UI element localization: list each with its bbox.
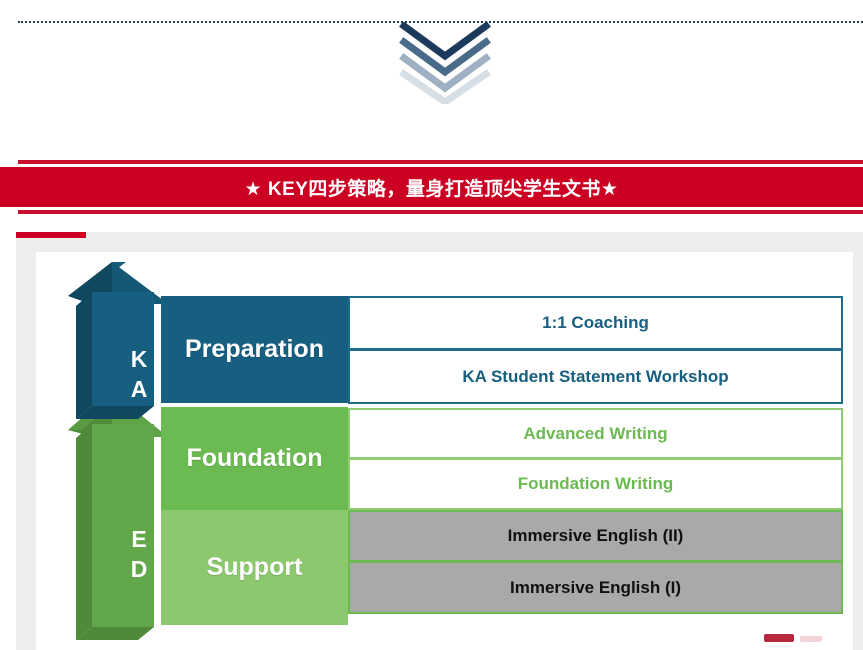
bottom-red-mark bbox=[764, 634, 794, 642]
promo-banner: ★ KEY四步策略，量身打造顶尖学生文书★ bbox=[0, 160, 863, 214]
banner-rule-top bbox=[18, 160, 863, 164]
program-item-immersive-english-1[interactable]: Immersive English (I) bbox=[348, 561, 843, 614]
banner-title: ★ KEY四步策略，量身打造顶尖学生文书★ bbox=[245, 174, 619, 201]
tier-label-preparation: Preparation bbox=[161, 296, 348, 403]
arrow-letter-e: E bbox=[124, 526, 154, 553]
program-item-coaching[interactable]: 1:1 Coaching bbox=[348, 296, 843, 350]
program-item-coaching-text: 1:1 Coaching bbox=[542, 313, 649, 333]
arrow-letter-d: D bbox=[124, 556, 154, 583]
tier-label-support-text: Support bbox=[207, 553, 303, 582]
tier-label-preparation-text: Preparation bbox=[185, 335, 324, 364]
arrow-letter-k: K bbox=[124, 346, 154, 373]
card-accent-tab bbox=[16, 232, 86, 238]
program-item-immersive-english-1-text: Immersive English (I) bbox=[510, 578, 681, 598]
diagram-card: K A E D Preparation Foundation Support 1… bbox=[16, 232, 863, 650]
arrow-letter-a: A bbox=[124, 376, 154, 403]
program-item-statement-workshop[interactable]: KA Student Statement Workshop bbox=[348, 349, 843, 404]
tier-label-foundation-text: Foundation bbox=[186, 444, 322, 473]
program-item-foundation-writing[interactable]: Foundation Writing bbox=[348, 458, 843, 510]
program-item-advanced-writing-text: Advanced Writing bbox=[523, 424, 667, 444]
banner-rule-bottom bbox=[18, 210, 863, 214]
diagram-panel: K A E D Preparation Foundation Support 1… bbox=[36, 252, 853, 650]
program-item-immersive-english-2[interactable]: Immersive English (II) bbox=[348, 510, 843, 562]
chevron-down-stack-icon bbox=[398, 22, 492, 104]
bottom-red-mark-secondary bbox=[800, 636, 822, 642]
ed-arrow-icon bbox=[68, 392, 168, 640]
program-ladder-diagram: K A E D Preparation Foundation Support 1… bbox=[36, 252, 853, 650]
page-root: ★ KEY四步策略，量身打造顶尖学生文书★ bbox=[0, 0, 863, 650]
program-item-foundation-writing-text: Foundation Writing bbox=[518, 474, 673, 494]
banner-bar: ★ KEY四步策略，量身打造顶尖学生文书★ bbox=[0, 167, 863, 207]
tier-label-support: Support bbox=[161, 510, 348, 625]
program-item-statement-workshop-text: KA Student Statement Workshop bbox=[462, 367, 728, 387]
program-item-advanced-writing[interactable]: Advanced Writing bbox=[348, 408, 843, 459]
program-item-immersive-english-2-text: Immersive English (II) bbox=[508, 526, 684, 546]
tier-label-foundation: Foundation bbox=[161, 407, 348, 510]
